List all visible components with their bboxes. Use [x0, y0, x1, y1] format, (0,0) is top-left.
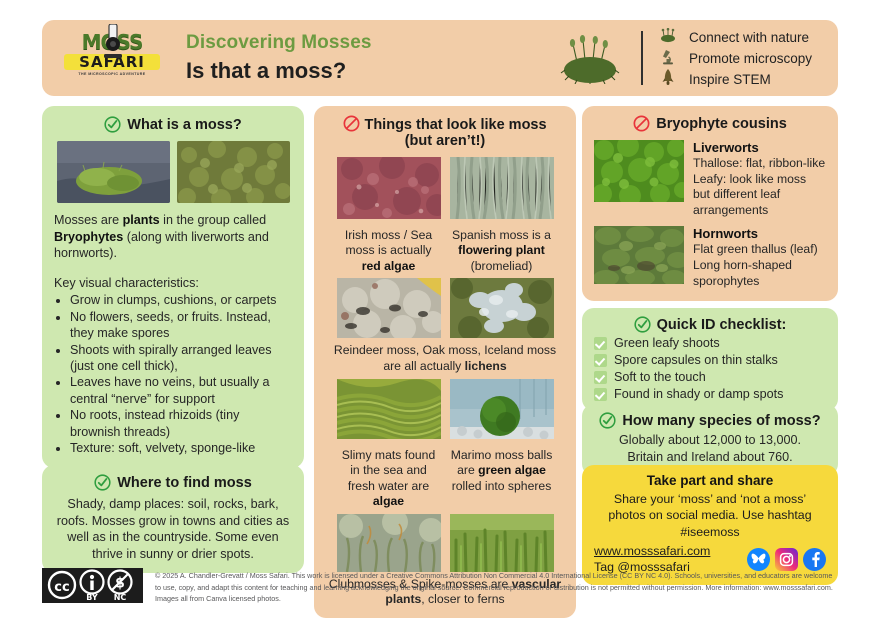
list-item: Texture: soft, velvety, sponge-like: [70, 440, 292, 456]
mission-list: Connect with nature Promote microscopy: [657, 27, 812, 90]
header-banner: MOSS SAFARI THE MICROSCOPIC ADVENTURE Di…: [42, 20, 838, 96]
mission-item: Connect with nature: [657, 27, 812, 48]
checklist-item[interactable]: Soft to the touch: [594, 370, 826, 384]
svg-text:cc: cc: [54, 580, 69, 595]
moss-cushion-icon: [657, 28, 679, 46]
lookalike-row-1: Irish moss / Sea moss is actually red al…: [324, 157, 566, 274]
where-to-find-moss-panel: Where to find moss Shady, damp places: s…: [42, 465, 304, 573]
lookalike-item: Irish moss / Sea moss is actually red al…: [337, 157, 441, 274]
caption-bold: green algae: [478, 463, 546, 477]
reindeer-moss-lichen-photo: [337, 278, 441, 338]
bryophyte-cousins-title-row: Bryophyte cousins: [594, 115, 826, 132]
what-is-a-moss-title: What is a moss?: [127, 117, 241, 133]
list-item: Shoots with spirally arranged leaves (ju…: [70, 342, 292, 375]
moss-carpet-closeup-photo: [177, 141, 290, 203]
rocket-icon: [657, 69, 679, 89]
oak-moss-lichen-photo: [450, 278, 554, 338]
hornwort-photo: [594, 226, 684, 284]
bryophyte-cousins-title: Bryophyte cousins: [656, 116, 787, 132]
cousin-text: Hornworts Flat green thallus (leaf) Long…: [693, 226, 826, 289]
quick-id-title-row: Quick ID checklist:: [594, 316, 826, 333]
caption-pre: Irish moss / Sea moss is actually: [345, 228, 432, 257]
caption-bold: flowering plant: [458, 243, 545, 257]
moss-cushion-on-rock-photo: [57, 141, 170, 203]
header-titles: Discovering Mosses Is that a moss?: [186, 32, 559, 84]
lookalike-caption: Marimo moss balls are green algae rolled…: [450, 448, 554, 494]
no-entry-icon: [633, 115, 650, 132]
mission-label: Connect with nature: [689, 30, 809, 45]
share-body: Share your ‘moss’ and ‘not a moss’ photo…: [594, 491, 826, 540]
check-circle-icon: [634, 316, 651, 333]
caption-bold: algae: [373, 494, 404, 508]
no-entry-icon: [343, 115, 360, 132]
checklist-item[interactable]: Found in shady or damp spots: [594, 387, 826, 401]
lookalike-caption-lichens: Reindeer moss, Oak moss, Iceland moss ar…: [324, 343, 566, 374]
logo-microscope-icon: [102, 24, 124, 64]
moss-definition: Mosses are plants in the group called Br…: [54, 212, 292, 262]
page-title: Is that a moss?: [186, 58, 559, 84]
what-is-a-moss-images: [54, 141, 292, 203]
cousin-description: Flat green thallus (leaf) Long horn-shap…: [693, 242, 826, 289]
check-circle-icon: [599, 412, 616, 429]
what-is-a-moss-panel: What is a moss?: [42, 106, 304, 468]
checklist-label: Green leafy shoots: [614, 336, 720, 350]
caption-post: (bromeliad): [471, 259, 533, 273]
infographic-page: MOSS SAFARI THE MICROSCOPIC ADVENTURE Di…: [0, 0, 892, 629]
quick-id-title: Quick ID checklist:: [657, 317, 787, 333]
lookalike-item: Slimy mats found in the sea and fresh wa…: [337, 379, 441, 510]
key-characteristics-list: Grow in clumps, cushions, or carpets No …: [70, 292, 292, 456]
definition-part-2: in the group called: [160, 213, 266, 227]
license-text: © 2025 A. Chandler-Grevatt / Moss Safari…: [155, 568, 838, 605]
species-title: How many species of moss?: [622, 413, 820, 429]
check-circle-icon: [104, 116, 121, 133]
checklist-label: Spore capsules on thin stalks: [614, 353, 778, 367]
liverwort-photo: [594, 140, 684, 202]
definition-bold-plants: plants: [123, 213, 160, 227]
caption-bold: lichens: [465, 359, 507, 373]
list-item: Grow in clumps, cushions, or carpets: [70, 292, 292, 308]
lookalike-caption: Irish moss / Sea moss is actually red al…: [337, 228, 441, 274]
caption-post: rolled into spheres: [452, 479, 552, 493]
cousin-name: Hornworts: [693, 226, 826, 241]
microscope-icon: [657, 48, 679, 68]
marimo-moss-ball-photo: [450, 379, 554, 439]
bryophyte-cousins-panel: Bryophyte cousins Liverworts Thallose: f…: [582, 106, 838, 301]
logo-tagline: THE MICROSCOPIC ADVENTURE: [64, 72, 160, 76]
lookalike-row-4: [324, 514, 566, 572]
caption-pre: Spanish moss is a: [452, 228, 551, 242]
definition-bold-bryophytes: Bryophytes: [54, 230, 123, 244]
spike-moss-photo: [450, 514, 554, 572]
lookalike-row-2: [324, 278, 566, 338]
cousin-text: Liverworts Thallose: flat, ribbon-like L…: [693, 140, 826, 218]
look-alikes-title-line1: Things that look like moss: [364, 117, 546, 133]
species-title-row: How many species of moss?: [594, 412, 826, 429]
caption-pre: Slimy mats found in the sea and fresh wa…: [342, 448, 435, 493]
mission-item: Inspire STEM: [657, 69, 812, 90]
checklist-label: Soft to the touch: [614, 370, 706, 384]
cousin-description: Thallose: flat, ribbon-like Leafy: look …: [693, 156, 826, 218]
footer: cc $ BY NC © 2025 A. Chandler-Grevatt / …: [42, 568, 838, 605]
check-circle-icon: [94, 474, 111, 491]
lookalike-item: Marimo moss balls are green algae rolled…: [450, 379, 554, 510]
checkbox-icon[interactable]: [594, 337, 607, 350]
mission-label: Inspire STEM: [689, 72, 771, 87]
look-alikes-panel: Things that look like moss (but aren’t!)…: [314, 106, 576, 618]
cousin-name: Liverworts: [693, 140, 826, 155]
look-alikes-title-line2: (but aren’t!): [324, 133, 566, 149]
list-item: No roots, instead rhizoids (tiny brownis…: [70, 407, 292, 440]
lookalike-caption: Slimy mats found in the sea and fresh wa…: [337, 448, 441, 510]
checklist-item[interactable]: Green leafy shoots: [594, 336, 826, 350]
moss-safari-logo: MOSS SAFARI THE MICROSCOPIC ADVENTURE: [64, 22, 160, 94]
moss-cushion-illustration: [559, 32, 621, 84]
checkbox-icon[interactable]: [594, 388, 607, 401]
cousin-row-liverworts: Liverworts Thallose: flat, ribbon-like L…: [594, 140, 826, 218]
what-is-a-moss-title-row: What is a moss?: [54, 116, 292, 133]
irish-moss-red-algae-photo: [337, 157, 441, 219]
checkbox-icon[interactable]: [594, 354, 607, 367]
header-divider: [641, 31, 643, 85]
creative-commons-by-nc-icon: cc $ BY NC: [42, 568, 143, 603]
clubmoss-photo: [337, 514, 441, 572]
key-characteristics-label: Key visual characteristics:: [54, 275, 292, 292]
spanish-moss-bromeliad-photo: [450, 157, 554, 219]
mission-label: Promote microscopy: [689, 51, 812, 66]
lookalike-caption: Spanish moss is a flowering plant (brome…: [450, 228, 554, 274]
share-title: Take part and share: [594, 473, 826, 488]
checkbox-icon[interactable]: [594, 371, 607, 384]
look-alikes-title-row: Things that look like moss (but aren’t!): [324, 115, 566, 149]
where-to-find-title: Where to find moss: [117, 475, 252, 491]
caption-pre: Reindeer moss, Oak moss, Iceland moss ar…: [334, 343, 556, 372]
checklist-item[interactable]: Spore capsules on thin stalks: [594, 353, 826, 367]
where-to-find-body: Shady, damp places: soil, rocks, bark, r…: [52, 496, 294, 562]
caption-bold: red algae: [362, 259, 416, 273]
header-subtitle: Discovering Mosses: [186, 32, 559, 54]
lookalike-item: Spanish moss is a flowering plant (brome…: [450, 157, 554, 274]
cousin-row-hornworts: Hornworts Flat green thallus (leaf) Long…: [594, 226, 826, 289]
species-global-count: Globally about 12,000 to 13,000.: [594, 432, 826, 449]
svg-text:BY: BY: [86, 593, 98, 602]
list-item: Leaves have no veins, but usually a cent…: [70, 374, 292, 407]
definition-part-1: Mosses are: [54, 213, 123, 227]
lookalike-row-3: Slimy mats found in the sea and fresh wa…: [324, 379, 566, 510]
species-britain-count: Britain and Ireland about 760.: [594, 449, 826, 466]
where-to-find-title-row: Where to find moss: [52, 474, 294, 491]
website-link[interactable]: www.mosssafari.com: [594, 543, 710, 559]
quick-id-checklist-panel: Quick ID checklist: Green leafy shoots S…: [582, 308, 838, 411]
svg-text:NC: NC: [114, 593, 127, 602]
slimy-green-algae-mats-photo: [337, 379, 441, 439]
mission-item: Promote microscopy: [657, 48, 812, 69]
list-item: No flowers, seeds, or fruits. Instead, t…: [70, 309, 292, 342]
checklist-label: Found in shady or damp spots: [614, 387, 783, 401]
